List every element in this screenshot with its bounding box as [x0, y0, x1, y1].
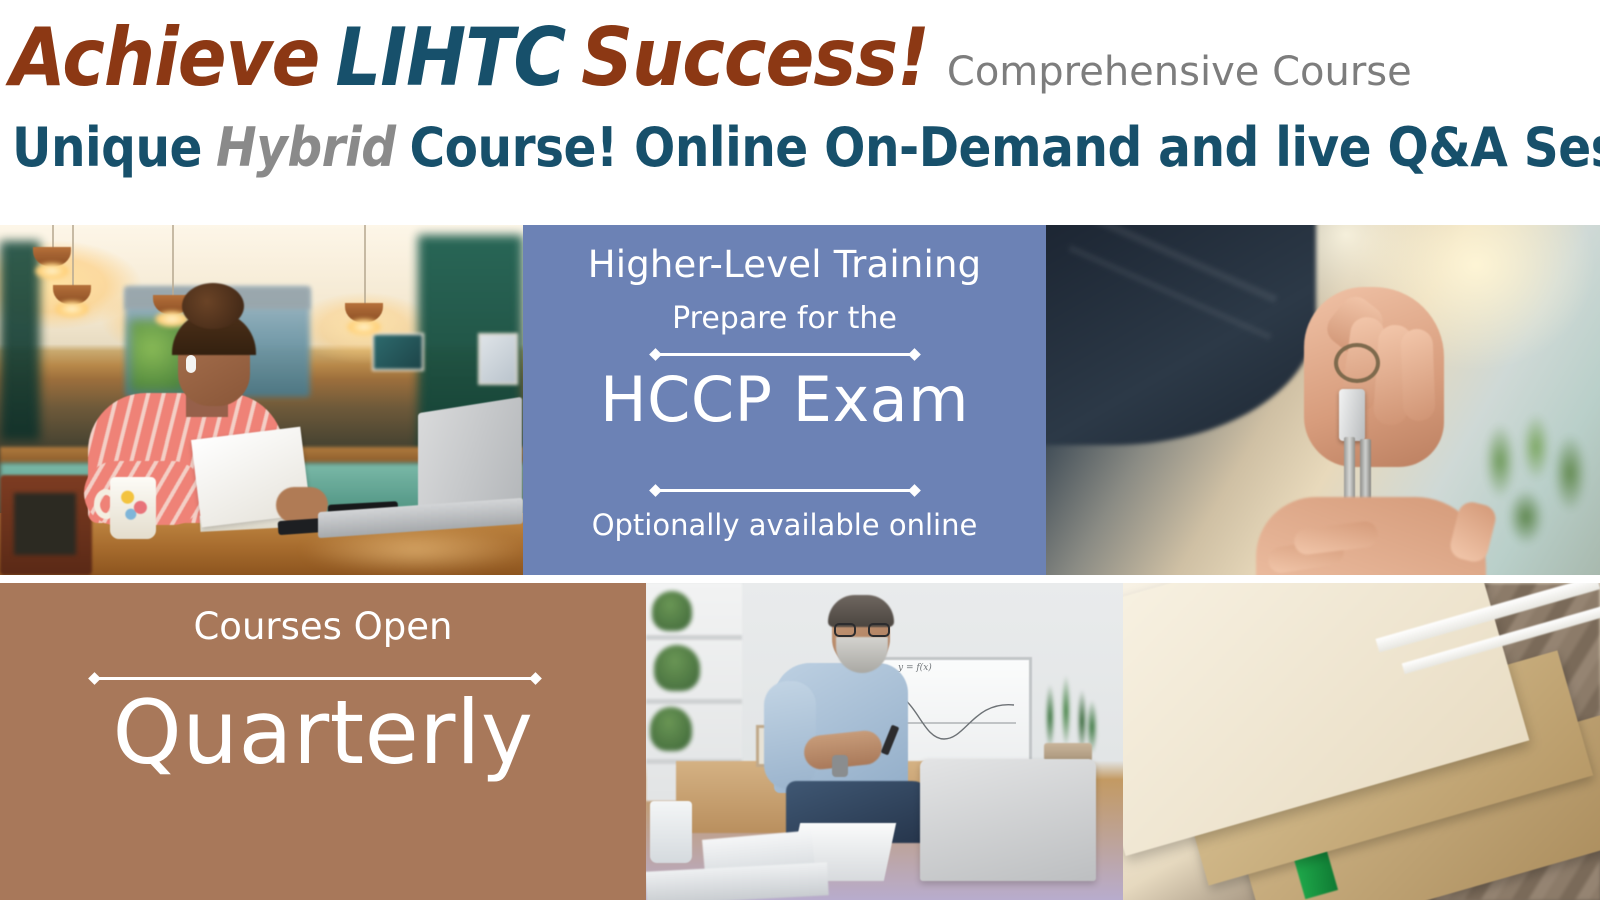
hccp-exam-panel: Higher-Level Training Prepare for the HC… — [523, 225, 1046, 575]
earbud-icon — [186, 355, 196, 373]
divider-bar — [660, 489, 910, 492]
subtitle-emphasis-hybrid: Hybrid — [216, 112, 396, 184]
hccp-exam-headline: HCCP Exam — [523, 363, 1046, 436]
key-fob — [1339, 389, 1365, 441]
mug-pattern — [118, 487, 150, 521]
glasses-icon — [834, 623, 890, 637]
woman-hair-bun — [182, 283, 244, 329]
shelf-plant-2 — [654, 645, 700, 691]
whiteboard-equation-label: y = f(x) — [898, 663, 932, 673]
diamond-icon-right — [908, 484, 921, 497]
photo-handing-over-keys — [1046, 225, 1600, 575]
hccp-line-higher-level-training: Higher-Level Training — [523, 243, 1046, 286]
pendant-cord-3 — [172, 225, 174, 297]
shelf-plant-1 — [652, 591, 692, 631]
paper-stack — [646, 862, 829, 900]
page-title: AchieveLIHTCSuccess!Comprehensive Course — [0, 8, 1600, 108]
wall-picture-two — [478, 333, 518, 385]
pendant-glow-2 — [55, 301, 89, 317]
diamond-icon-left — [649, 348, 662, 361]
divider-bar — [660, 353, 910, 356]
pendant-glow-1 — [35, 263, 69, 279]
chair-gap — [14, 493, 76, 555]
shelf-plant-3 — [650, 707, 692, 751]
diamond-icon-left — [649, 484, 662, 497]
keyring-icon — [1334, 343, 1380, 383]
pendant-cord-1 — [52, 225, 54, 249]
pendant-cord-2 — [72, 225, 74, 287]
wall-picture-one — [372, 333, 424, 371]
courses-open-panel: Courses Open Quarterly — [0, 583, 646, 900]
page-subtitle: UniqueHybridCourse! Online On-Demand and… — [0, 112, 1600, 184]
header-banner: AchieveLIHTCSuccess!Comprehensive Course… — [0, 0, 1600, 225]
giving-hand-finger-3 — [1400, 328, 1435, 421]
photo-woman-studying-at-laptop — [0, 225, 523, 575]
headline-word-achieve: Achieve — [10, 8, 319, 108]
instructor-sleeve — [764, 681, 816, 789]
wristwatch — [832, 755, 848, 777]
headline-word-lihtc: LIHTC — [335, 8, 565, 108]
divider-bar — [99, 677, 531, 680]
photo-instructor-teaching: y = f(x) — [646, 583, 1123, 900]
quarterly-headline: Quarterly — [0, 681, 646, 784]
diamond-icon-right — [908, 348, 921, 361]
collage-grid: Higher-Level Training Prepare for the HC… — [0, 225, 1600, 900]
desk-cup — [650, 801, 692, 863]
headline-tagline: Comprehensive Course — [947, 22, 1412, 122]
kitchen-wall-left — [0, 241, 40, 441]
hccp-line-prepare-for-the: Prepare for the — [523, 301, 1046, 336]
courses-open-label: Courses Open — [0, 605, 646, 648]
hccp-line-optionally-available-online: Optionally available online — [523, 508, 1046, 542]
photo-file-folders — [1123, 583, 1600, 900]
hccp-divider-bottom — [651, 483, 919, 497]
shelf-line-2 — [646, 699, 742, 704]
shelf-line-1 — [646, 635, 742, 640]
hccp-divider-top — [651, 347, 919, 361]
background-plant — [1466, 411, 1598, 575]
subtitle-part-one: Unique — [12, 112, 202, 184]
subtitle-part-two: Course! Online On-Demand and live Q&A Se… — [410, 112, 1600, 184]
pendant-glow-4 — [347, 319, 381, 335]
pendant-cord-4 — [364, 225, 366, 305]
laptop — [920, 759, 1096, 881]
headline-word-success: Success! — [581, 8, 929, 108]
